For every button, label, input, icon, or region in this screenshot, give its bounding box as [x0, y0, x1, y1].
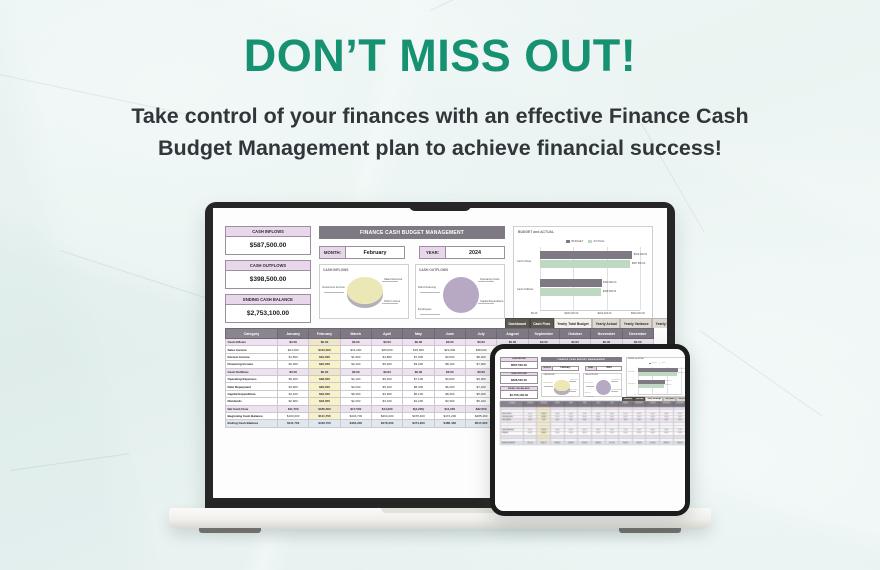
chart-legend-item: ACTUAL [588, 239, 605, 243]
laptop-notch [409, 202, 471, 211]
pie-slices [596, 380, 612, 396]
field-year[interactable]: YEAR:2024 [585, 366, 622, 372]
table-cell-value[interactable]: $29,000 [371, 346, 402, 353]
kpi-column: CASH INFLOWS$587,500.00CASH OUTFLOWS$398… [500, 357, 537, 401]
table-cell-value[interactable]: $474,200 [434, 412, 465, 419]
chart-title: BUDGET and ACTUAL [628, 359, 644, 360]
chart-legend-item: BUDGET [649, 363, 656, 364]
dashboard-title: FINANCE CASH BUDGET MANAGEMENT [319, 226, 505, 239]
field-value[interactable]: February [553, 367, 577, 371]
table-cell-value[interactable]: $5,100 [371, 383, 402, 390]
table-cell-category[interactable]: Ending Cash Balance [226, 420, 278, 427]
dashboard-canvas: CASH INFLOWS$587,500.00CASH OUTFLOWS$398… [495, 349, 685, 511]
table-cell-value[interactable]: $0.00 [465, 339, 496, 346]
table-cell-value[interactable]: $4,100 [340, 375, 371, 382]
kpi-card: ENDING CASH BALANCE$2,753,100.00 [500, 386, 537, 399]
field-value[interactable]: February [346, 247, 404, 258]
pie-slices [443, 277, 479, 313]
chart-xtick-label: $400,000.00 [598, 312, 612, 315]
chart-title: CASH OUTFLOWS [419, 268, 448, 272]
legend-swatch [588, 240, 592, 243]
table-cell-value[interactable]: $517,900 [605, 441, 619, 444]
field-label: YEAR: [420, 247, 446, 258]
field-year[interactable]: YEAR:2024 [419, 246, 505, 259]
table-cell-value[interactable]: $3,300 [434, 398, 465, 405]
pie-chart-cash-inflows: CASH INFLOWSSales RevenueInvestment Inco… [541, 373, 580, 397]
table-cell-category[interactable]: Operating Expenses [226, 375, 278, 382]
kpi-card: ENDING CASH BALANCE$2,753,100.00 [225, 294, 311, 323]
table-cell-value[interactable]: $111,700 [309, 412, 340, 419]
chart-data-label: $398,500.00 [665, 385, 672, 386]
table-cell-value[interactable]: $335,000 [309, 405, 340, 412]
tablet-mockup: CASH INFLOWS$587,500.00CASH OUTFLOWS$398… [490, 344, 690, 516]
table-cell-value[interactable]: $100,000 [278, 412, 309, 419]
chart-data-label: $600,000.00 [634, 253, 647, 256]
table-column-header[interactable]: February [309, 329, 340, 339]
table-cell-value[interactable]: $6,200 [434, 383, 465, 390]
chart-title: CASH INFLOWS [323, 268, 348, 272]
table-cell-category[interactable]: Ending Cash Balance [501, 441, 524, 444]
table-cell-value[interactable]: $0.00 [309, 368, 340, 375]
table-cell-value[interactable]: $7,000 [403, 353, 434, 360]
pie-slices [554, 380, 570, 392]
table-cell-value[interactable]: $3,900 [371, 390, 402, 397]
table-cell-category[interactable]: Beginning Cash Balance [226, 412, 278, 419]
chart-slice-label: Other Income [570, 390, 577, 391]
table-cell-value[interactable]: $485,400 [434, 420, 465, 427]
table-row[interactable]: Ending Cash Balance$111,700$446,700$464,… [501, 441, 685, 444]
sheet-tab-cash-flow[interactable]: Cash Flow [530, 318, 554, 328]
kpi-label: CASH OUTFLOWS [225, 260, 311, 271]
background-crack [699, 330, 822, 417]
table-cell-value[interactable]: $29,000 [309, 383, 340, 390]
sheet-tab-yearly-actual[interactable]: Yearly Actual [663, 397, 676, 401]
table-cell-value[interactable]: $8,400 [434, 390, 465, 397]
table-cell-value[interactable]: $3,100 [340, 361, 371, 368]
budget-table[interactable]: CategoryJanuaryFebruaryMarchAprilMayJune… [500, 401, 685, 445]
sheet-tab-yearly-total-budget[interactable]: Yearly Total Budget [645, 397, 663, 401]
table-column-header[interactable]: December [622, 329, 653, 339]
table-column-header[interactable]: May [403, 329, 434, 339]
field-month[interactable]: MONTH:February [541, 366, 578, 372]
table-cell-value[interactable]: $3,600 [434, 353, 465, 360]
laptop-foot-left [199, 528, 261, 533]
table-cell-value[interactable]: $31,000 [340, 346, 371, 353]
table-cell-value[interactable]: $446,700 [340, 412, 371, 419]
table-cell-category[interactable]: Cash Outflows [226, 368, 278, 375]
chart-leader-line [420, 292, 440, 293]
table-cell-value[interactable]: $464,200 [551, 441, 565, 444]
table-cell-value[interactable]: $33,000 [309, 390, 340, 397]
field-label: MONTH: [542, 367, 553, 371]
kpi-label: ENDING CASH BALANCE [225, 294, 311, 305]
chart-data-label: $400,000.00 [603, 281, 616, 284]
kpi-value: $587,500.00 [500, 362, 537, 370]
field-label: MONTH: [320, 247, 346, 258]
field-value[interactable]: 2024 [446, 247, 504, 258]
chart-slice-label: Sales Revenue [384, 278, 402, 281]
chart-slice-label: Operating Costs [480, 278, 499, 281]
table-cell-value[interactable]: $4,600 [434, 375, 465, 382]
table-cell-value[interactable]: $22,000 [309, 361, 340, 368]
sheet-tab-yearly-variance[interactable]: Yearly Variance [620, 318, 652, 328]
bar-chart-budget-actual: BUDGET and ACTUALBUDGETACTUAL$0.00$200,0… [513, 226, 653, 319]
chart-slice-label: Other Income [384, 300, 400, 303]
chart-axis [638, 394, 682, 395]
table-cell-value[interactable]: $534,300 [619, 441, 633, 444]
table-cell-category[interactable]: Financing Income [226, 361, 278, 368]
table-cell-value[interactable]: $0.00 [278, 368, 309, 375]
chart-slice-label: Capital Expenditure [480, 300, 503, 303]
chart-leader-line [586, 386, 595, 387]
table-cell-value[interactable]: $478,400 [403, 412, 434, 419]
table-cell-value[interactable]: $464,200 [340, 420, 371, 427]
chart-slice-label: Employees [418, 308, 431, 311]
table-cell-value[interactable]: $557,400 [646, 441, 660, 444]
kpi-value: $2,753,100.00 [225, 305, 311, 323]
table-column-header[interactable]: April [371, 329, 402, 339]
chart-slice-label: Employees [585, 393, 591, 394]
table-cell-value[interactable]: $18,000 [309, 398, 340, 405]
chart-leader-line [569, 391, 576, 392]
pie-slices [347, 277, 383, 304]
table-cell-value[interactable]: $6,200 [371, 375, 402, 382]
chart-title: BUDGET and ACTUAL [518, 230, 554, 234]
chart-gridline [681, 367, 682, 394]
table-cell-category[interactable]: Sales Income [226, 346, 278, 353]
table-cell-value[interactable]: $111,700 [278, 420, 309, 427]
chart-category-label: Cash Outflows [517, 288, 533, 291]
table-cell-value[interactable]: $4,800 [371, 353, 402, 360]
kpi-value: $398,500.00 [225, 271, 311, 289]
chart-slice-label: Operating Costs [612, 380, 621, 381]
sheet-tab-dashboard[interactable]: Dashboard [622, 397, 634, 401]
chart-leader-line [611, 391, 618, 392]
chart-legend-item: ACTUAL [659, 363, 666, 364]
chart-leader-line [382, 303, 398, 304]
table-cell-value[interactable]: $446,700 [537, 441, 551, 444]
chart-slice-label: Debt Financing [585, 383, 593, 384]
table-cell-value[interactable]: $474,200 [403, 420, 434, 427]
table-cell-value[interactable]: $11,200 [434, 405, 465, 412]
chart-data-label: $600,000.00 [679, 369, 685, 370]
chart-bar-actual [638, 372, 677, 375]
pie-chart-cash-outflows: CASH OUTFLOWSOperating CostsDebt Financi… [415, 264, 505, 319]
table-cell-value[interactable]: $7,100 [403, 375, 434, 382]
kpi-card: CASH OUTFLOWS$398,500.00 [500, 372, 537, 385]
table-cell-value[interactable]: $446,700 [309, 420, 340, 427]
table-column-header[interactable]: November [591, 329, 622, 339]
table-cell-value[interactable]: $0.00 [340, 368, 371, 375]
table-column-header[interactable]: March [340, 329, 371, 339]
table-cell-value[interactable]: $3,200 [340, 383, 371, 390]
table-cell-category[interactable]: Capital Expenditure [226, 390, 278, 397]
sheet-tab-yearly-variance[interactable]: Yearly Variance [676, 397, 685, 401]
table-cell-value[interactable]: $6,100 [403, 390, 434, 397]
chart-category-label: Cash Inflows [517, 260, 531, 263]
sheet-tabs: DashboardCash FlowYearly Total BudgetYea… [622, 397, 685, 401]
kpi-card: CASH INFLOWS$587,500.00 [500, 357, 537, 370]
table-cell-value[interactable]: $0.00 [278, 339, 309, 346]
page-headline: DON’T MISS OUT! [0, 30, 880, 82]
table-cell-value[interactable]: $24,000 [278, 346, 309, 353]
table-cell-value[interactable]: $0.00 [434, 339, 465, 346]
table-cell-value[interactable]: $0.00 [403, 339, 434, 346]
table-cell-value[interactable]: $412,000 [309, 346, 340, 353]
table-cell-value[interactable]: $0.00 [371, 368, 402, 375]
chart-leader-line [569, 381, 576, 382]
chart-leader-line [478, 281, 494, 282]
chart-bar-budget [540, 279, 602, 287]
kpi-value: $2,753,100.00 [500, 391, 537, 399]
chart-leader-line [478, 303, 494, 304]
field-month[interactable]: MONTH:February [319, 246, 405, 259]
table-cell-value[interactable]: $8,300 [403, 383, 434, 390]
legend-label: ACTUAL [661, 363, 666, 364]
table-column-header[interactable]: August [497, 329, 528, 339]
pie-chart-cash-inflows: CASH INFLOWSSales RevenueInvestment Inco… [319, 264, 409, 319]
table-column-header[interactable]: October [559, 329, 590, 339]
chart-data-label: $587,500.00 [632, 262, 645, 265]
chart-bar-actual [638, 384, 665, 387]
chart-data-label: $398,500.00 [603, 290, 616, 293]
table-cell-value[interactable]: $1,900 [340, 353, 371, 360]
table-cell-value[interactable]: $111,700 [523, 441, 537, 444]
table-cell-value[interactable]: $2,900 [278, 398, 309, 405]
table-cell-category[interactable]: Net Cash Flow [226, 405, 278, 412]
kpi-card: CASH OUTFLOWS$398,500.00 [225, 260, 311, 289]
table-cell-value[interactable]: $594,100 [673, 441, 685, 444]
chart-slice-label: Sales Revenue [570, 380, 578, 381]
chart-bar-actual [540, 260, 630, 268]
table-column-header[interactable]: January [278, 329, 309, 339]
chart-category-label: Cash Inflows [628, 372, 635, 373]
bar-chart-budget-actual: BUDGET and ACTUALBUDGETACTUAL$0.00$200,0… [626, 357, 686, 397]
chart-data-label: $400,000.00 [665, 381, 672, 382]
table-cell-value[interactable]: $2,200 [340, 398, 371, 405]
sheet-tab-cash-flow[interactable]: Cash Flow [634, 397, 646, 401]
chart-title: CASH INFLOWS [543, 375, 554, 376]
sheet-tab-yearly-actual[interactable]: Yearly Actual [592, 318, 620, 328]
table-cell-category[interactable]: Dividends [226, 398, 278, 405]
chart-category-label: Cash Outflows [628, 384, 636, 385]
table-cell-value[interactable]: $0.00 [403, 368, 434, 375]
field-label: YEAR: [586, 367, 597, 371]
table-cell-value[interactable]: $8,100 [434, 361, 465, 368]
table-column-header[interactable]: July [465, 329, 496, 339]
table-cell-value[interactable]: $4,200 [403, 398, 434, 405]
kpi-value: $398,500.00 [500, 376, 537, 384]
table-column-header[interactable]: June [434, 329, 465, 339]
table-cell-value[interactable]: $3,900 [278, 383, 309, 390]
chart-slice-label: Investment Income [543, 383, 553, 384]
page-subheadline: Take control of your finances with an ef… [90, 100, 790, 164]
table-cell-value[interactable]: $474,200 [578, 441, 592, 444]
chart-leader-line [420, 314, 440, 315]
chart-data-label: $587,500.00 [678, 373, 685, 374]
chart-xtick-label: $200,000.00 [564, 312, 578, 315]
table-cell-category[interactable]: Cash Inflows [226, 339, 278, 346]
table-cell-value[interactable]: $19,000 [309, 353, 340, 360]
kpi-value: $587,500.00 [225, 237, 311, 255]
chart-bar-budget [540, 251, 632, 259]
chart-slice-label: Capital Expenditure [612, 390, 622, 391]
table-cell-value[interactable]: $0.00 [434, 368, 465, 375]
chart-xtick-label: $0.00 [531, 312, 537, 315]
table-cell-value[interactable]: $2,300 [278, 361, 309, 368]
chart-title: CASH OUTFLOWS [585, 375, 598, 376]
sheet-tabs: DashboardCash FlowYearly Total BudgetYea… [505, 318, 667, 328]
table-cell-value[interactable]: $5,400 [371, 361, 402, 368]
legend-swatch [566, 240, 570, 243]
chart-legend-item: BUDGET [566, 239, 583, 243]
laptop-foot-right [619, 528, 681, 533]
table-cell-value[interactable]: $464,200 [371, 412, 402, 419]
chart-leader-line [586, 396, 595, 397]
chart-bar-actual [540, 288, 601, 296]
chart-leader-line [544, 386, 553, 387]
tablet-screen: CASH INFLOWS$587,500.00CASH OUTFLOWS$398… [495, 349, 685, 511]
table-cell-value[interactable]: $3,100 [371, 398, 402, 405]
table-cell-value[interactable]: $478,400 [371, 420, 402, 427]
table-cell-value[interactable]: $17,500 [340, 405, 371, 412]
table-column-header[interactable]: September [528, 329, 559, 339]
table-column-header[interactable]: Category [226, 329, 278, 339]
legend-label: ACTUAL [594, 239, 605, 243]
sheet-tab-yearly-b[interactable]: Yearly B [652, 318, 667, 328]
background-crack [430, 0, 575, 11]
table-cell-value[interactable]: $5,200 [278, 375, 309, 382]
table-cell-value[interactable]: $3,200 [403, 361, 434, 368]
table-cell-value[interactable]: $478,400 [564, 441, 578, 444]
table-cell-category[interactable]: Interest Income [226, 353, 278, 360]
dashboard-title: FINANCE CASH BUDGET MANAGEMENT [541, 357, 622, 363]
table-cell-value[interactable]: $0.00 [309, 339, 340, 346]
sheet-tab-dashboard[interactable]: Dashboard [505, 318, 530, 328]
chart-slice-label: Investment Income [322, 286, 345, 289]
subheadline-line-2: Budget Management plan to achieve financ… [158, 136, 722, 160]
chart-leader-line [611, 381, 618, 382]
table-cell-value[interactable]: $580,600 [660, 441, 674, 444]
chart-gridline [640, 247, 641, 310]
pie-chart-cash-outflows: CASH OUTFLOWSOperating CostsDebt Financi… [583, 373, 622, 397]
table-header-row: CategoryJanuaryFebruaryMarchAprilMayJune… [226, 329, 654, 339]
table-cell-value[interactable]: $11,700 [278, 405, 309, 412]
field-value[interactable]: 2024 [597, 367, 621, 371]
table-cell-value[interactable]: $0.00 [371, 339, 402, 346]
kpi-card: CASH INFLOWS$587,500.00 [225, 226, 311, 255]
table-cell-value[interactable]: $549,200 [632, 441, 646, 444]
spreadsheet-dashboard-tablet: CASH INFLOWS$587,500.00CASH OUTFLOWS$398… [495, 349, 685, 511]
table-cell-value[interactable]: $4,100 [278, 390, 309, 397]
legend-label: BUDGET [572, 239, 584, 243]
table-cell-value[interactable]: $5,300 [340, 390, 371, 397]
table-cell-value[interactable]: $22,000 [434, 346, 465, 353]
table-cell-value[interactable]: $(4,200) [403, 405, 434, 412]
chart-slice-label: Debt Financing [418, 286, 436, 289]
table-cell-value[interactable]: $38,000 [309, 375, 340, 382]
chart-axis [540, 310, 640, 311]
kpi-column: CASH INFLOWS$587,500.00CASH OUTFLOWS$398… [225, 226, 311, 328]
table-cell-value[interactable]: $0.00 [340, 339, 371, 346]
background-crack [10, 453, 129, 471]
legend-label: BUDGET [651, 363, 656, 364]
kpi-label: CASH INFLOWS [225, 226, 311, 237]
table-cell-value[interactable]: $14,200 [371, 405, 402, 412]
chart-leader-line [324, 292, 344, 293]
table-cell-value[interactable]: $1,500 [278, 353, 309, 360]
table-cell-value[interactable]: $485,400 [591, 441, 605, 444]
chart-leader-line [382, 281, 398, 282]
subheadline-line-1: Take control of your finances with an ef… [131, 104, 748, 128]
chart-xtick-label: $0.00 [634, 395, 637, 396]
sheet-tab-yearly-total-budget[interactable]: Yearly Total Budget [554, 318, 592, 328]
table-cell-value[interactable]: $15,000 [403, 346, 434, 353]
table-cell-category[interactable]: Debt Repayment [226, 383, 278, 390]
chart-xtick-label: $600,000.00 [631, 312, 645, 315]
